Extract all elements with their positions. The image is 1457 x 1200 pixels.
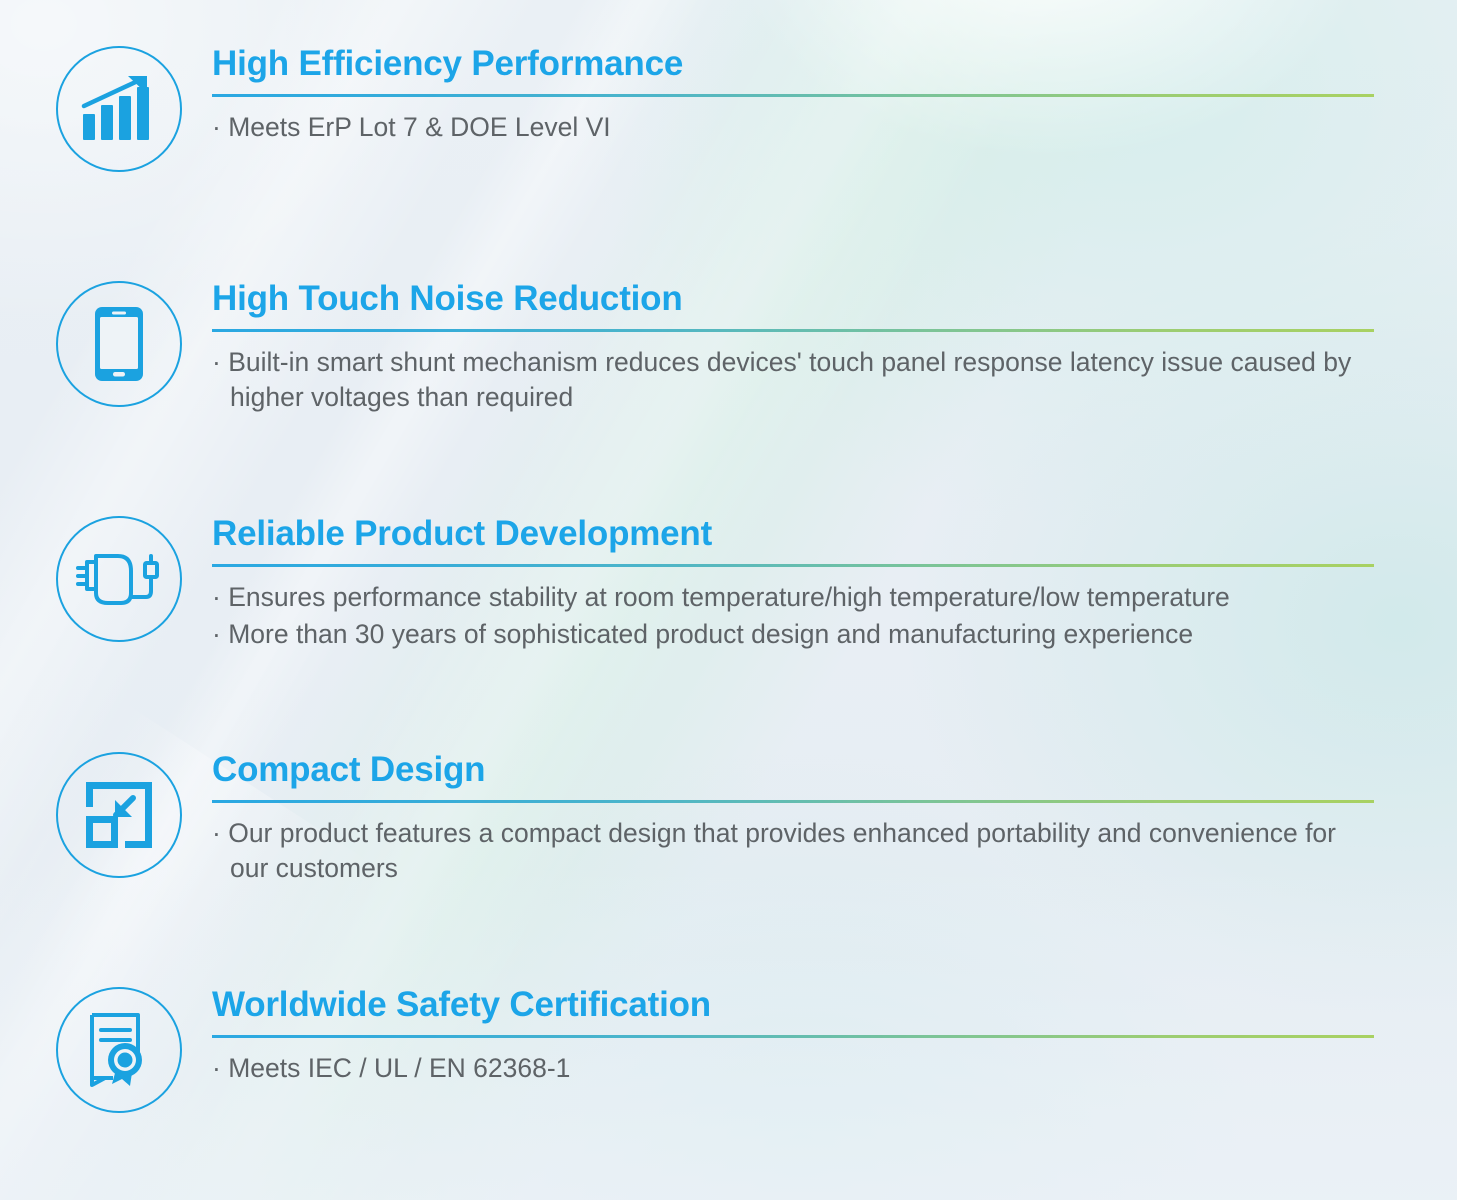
feature-title: High Efficiency Performance: [212, 46, 1375, 83]
feature-bullets: · Our product features a compact design …: [212, 816, 1375, 886]
feature-body: High Efficiency Performance · Meets ErP …: [212, 46, 1375, 145]
bullet-text: More than 30 years of sophisticated prod…: [228, 619, 1193, 649]
feature-bullets: · Ensures performance stability at room …: [212, 580, 1375, 652]
feature-title: High Touch Noise Reduction: [212, 281, 1375, 318]
feature-bullets: · Built-in smart shunt mechanism reduces…: [212, 345, 1375, 415]
bar-chart-growth-icon: [56, 46, 182, 172]
feature-bullets: · Meets ErP Lot 7 & DOE Level VI: [212, 110, 1375, 145]
feature-divider: [212, 564, 1374, 567]
bullet-text: Meets ErP Lot 7 & DOE Level VI: [228, 112, 610, 142]
bullet-marker: ·: [212, 582, 221, 612]
feature-title: Reliable Product Development: [212, 516, 1375, 553]
feature-body: Worldwide Safety Certification · Meets I…: [212, 987, 1375, 1086]
feature-divider: [212, 329, 1374, 332]
feature-body: Reliable Product Development · Ensures p…: [212, 516, 1375, 652]
bullet-marker: ·: [212, 347, 221, 377]
feature-title: Compact Design: [212, 752, 1375, 789]
smartphone-icon: [56, 281, 182, 407]
bullet-text: Meets IEC / UL / EN 62368-1: [228, 1053, 570, 1083]
compact-resize-icon: [56, 752, 182, 878]
bullet-marker: ·: [212, 619, 221, 649]
feature-body: Compact Design · Our product features a …: [212, 752, 1375, 886]
bullet-text: Built-in smart shunt mechanism reduces d…: [228, 347, 1351, 412]
feature-bullet: · Meets ErP Lot 7 & DOE Level VI: [212, 110, 1375, 145]
feature-bullet: · Built-in smart shunt mechanism reduces…: [212, 345, 1375, 415]
bullet-text: Our product features a compact design th…: [228, 818, 1336, 883]
power-adapter-icon: [56, 516, 182, 642]
bullet-marker: ·: [212, 1053, 221, 1083]
feature-body: High Touch Noise Reduction · Built-in sm…: [212, 281, 1375, 415]
feature-bullet: · Our product features a compact design …: [212, 816, 1375, 886]
feature-bullet: · Meets IEC / UL / EN 62368-1: [212, 1051, 1375, 1086]
feature-divider: [212, 94, 1374, 97]
feature-title: Worldwide Safety Certification: [212, 987, 1375, 1024]
certificate-seal-icon: [56, 987, 182, 1113]
feature-bullet: · More than 30 years of sophisticated pr…: [212, 617, 1375, 652]
feature-divider: [212, 800, 1374, 803]
feature-highlights-page: High Efficiency Performance · Meets ErP …: [0, 0, 1457, 1200]
bullet-text: Ensures performance stability at room te…: [228, 582, 1230, 612]
feature-bullet: · Ensures performance stability at room …: [212, 580, 1375, 615]
feature-bullets: · Meets IEC / UL / EN 62368-1: [212, 1051, 1375, 1086]
bullet-marker: ·: [212, 112, 221, 142]
feature-divider: [212, 1035, 1374, 1038]
bullet-marker: ·: [212, 818, 221, 848]
